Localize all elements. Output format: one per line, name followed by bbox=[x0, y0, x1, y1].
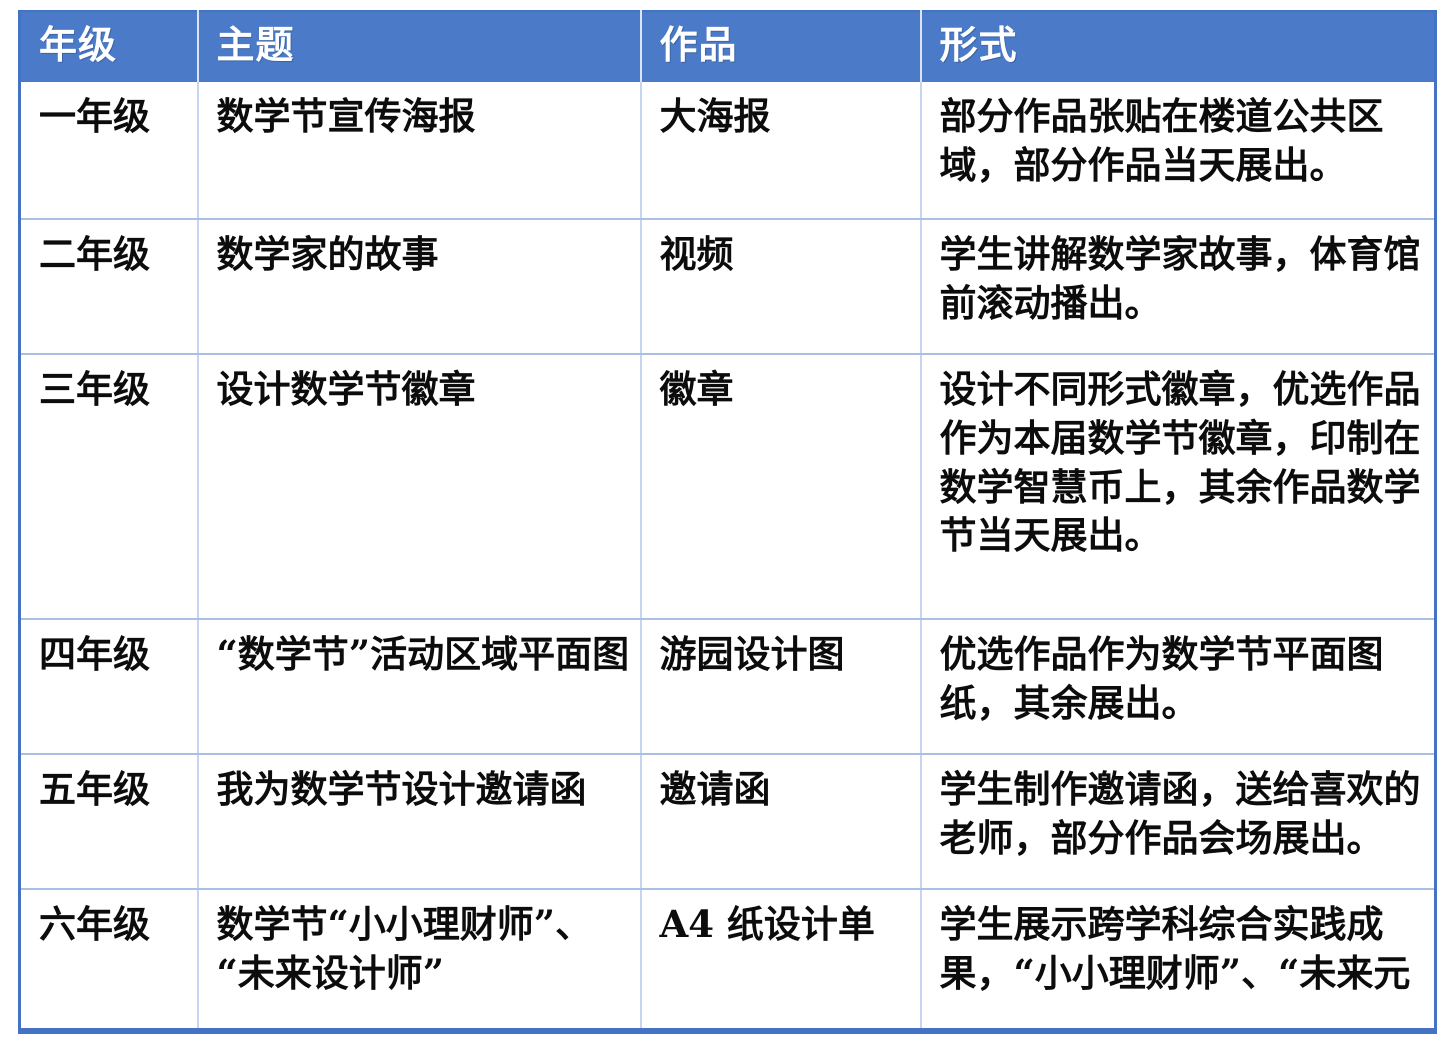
table-row: 一年级 数学节宣传海报 大海报 部分作品张贴在楼道公共区域，部分作品当天展出。 bbox=[20, 82, 1436, 219]
cell-theme: 设计数学节徽章 bbox=[198, 354, 641, 619]
cell-work: 徽章 bbox=[641, 354, 921, 619]
cell-work: 大海报 bbox=[641, 82, 921, 219]
cell-theme: 我为数学节设计邀请函 bbox=[198, 754, 641, 889]
table-header: 年级 主题 作品 形式 bbox=[20, 11, 1436, 82]
cell-form: 优选作品作为数学节平面图纸，其余展出。 bbox=[921, 619, 1436, 754]
cell-form: 学生讲解数学家故事，体育馆前滚动播出。 bbox=[921, 219, 1436, 354]
cell-theme: “数学节”活动区域平面图 bbox=[198, 619, 641, 754]
cell-work: A4 纸设计单 bbox=[641, 889, 921, 1031]
cell-form: 部分作品张贴在楼道公共区域，部分作品当天展出。 bbox=[921, 82, 1436, 219]
cell-grade: 六年级 bbox=[20, 889, 198, 1031]
cell-form: 设计不同形式徽章，优选作品作为本届数学节徽章，印制在数学智慧币上，其余作品数学节… bbox=[921, 354, 1436, 619]
document-page: 年级 主题 作品 形式 一年级 数学节宣传海报 大海报 部分作品张贴在楼道公共区… bbox=[0, 0, 1456, 1046]
grade-activity-table-container: 年级 主题 作品 形式 一年级 数学节宣传海报 大海报 部分作品张贴在楼道公共区… bbox=[18, 10, 1434, 1034]
cell-grade: 五年级 bbox=[20, 754, 198, 889]
table-row: 六年级 数学节“小小理财师”、“未来设计师” A4 纸设计单 学生展示跨学科综合… bbox=[20, 889, 1436, 1031]
table-row: 二年级 数学家的故事 视频 学生讲解数学家故事，体育馆前滚动播出。 bbox=[20, 219, 1436, 354]
cell-grade: 三年级 bbox=[20, 354, 198, 619]
cell-work: 视频 bbox=[641, 219, 921, 354]
cell-form: 学生展示跨学科综合实践成果，“小小理财师”、“未来元 bbox=[921, 889, 1436, 1031]
table-body: 一年级 数学节宣传海报 大海报 部分作品张贴在楼道公共区域，部分作品当天展出。 … bbox=[20, 82, 1436, 1031]
cell-theme: 数学家的故事 bbox=[198, 219, 641, 354]
table-row: 三年级 设计数学节徽章 徽章 设计不同形式徽章，优选作品作为本届数学节徽章，印制… bbox=[20, 354, 1436, 619]
cell-form: 学生制作邀请函，送给喜欢的老师，部分作品会场展出。 bbox=[921, 754, 1436, 889]
cell-theme: 数学节宣传海报 bbox=[198, 82, 641, 219]
column-header-grade: 年级 bbox=[20, 11, 198, 82]
table-row: 五年级 我为数学节设计邀请函 邀请函 学生制作邀请函，送给喜欢的老师，部分作品会… bbox=[20, 754, 1436, 889]
cell-work: 邀请函 bbox=[641, 754, 921, 889]
table-row: 四年级 “数学节”活动区域平面图 游园设计图 优选作品作为数学节平面图纸，其余展… bbox=[20, 619, 1436, 754]
grade-activity-table: 年级 主题 作品 形式 一年级 数学节宣传海报 大海报 部分作品张贴在楼道公共区… bbox=[18, 10, 1437, 1034]
cell-work: 游园设计图 bbox=[641, 619, 921, 754]
cell-grade: 二年级 bbox=[20, 219, 198, 354]
column-header-theme: 主题 bbox=[198, 11, 641, 82]
column-header-form: 形式 bbox=[921, 11, 1436, 82]
cell-grade: 四年级 bbox=[20, 619, 198, 754]
table-header-row: 年级 主题 作品 形式 bbox=[20, 11, 1436, 82]
cell-grade: 一年级 bbox=[20, 82, 198, 219]
column-header-work: 作品 bbox=[641, 11, 921, 82]
cell-theme: 数学节“小小理财师”、“未来设计师” bbox=[198, 889, 641, 1031]
